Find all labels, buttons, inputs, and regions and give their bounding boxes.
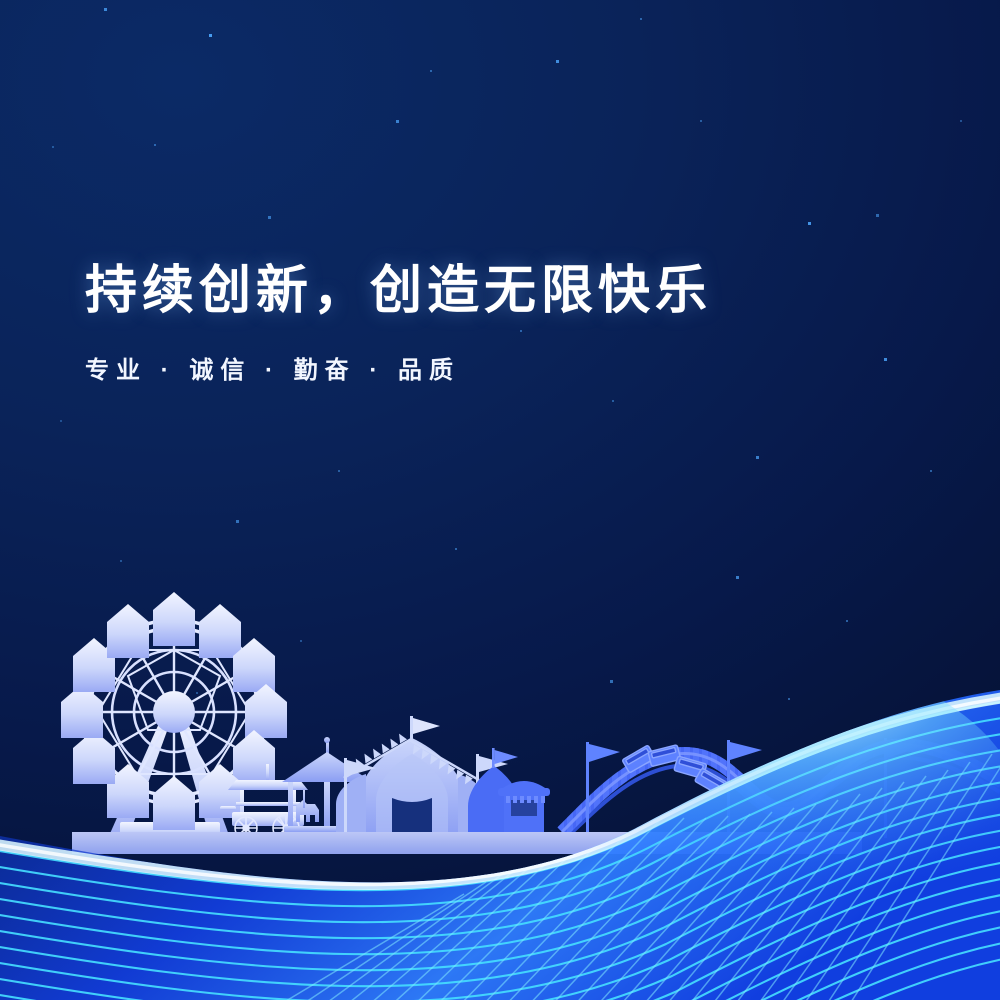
glowing-wave-mesh <box>0 0 1000 1000</box>
poster-canvas: 持续创新，创造无限快乐 专业 · 诚信 · 勤奋 · 品质 <box>0 0 1000 1000</box>
page-title: 持续创新，创造无限快乐 <box>85 262 712 320</box>
hero-copy: 持续创新，创造无限快乐 专业 · 诚信 · 勤奋 · 品质 <box>85 262 712 385</box>
page-subtitle: 专业 · 诚信 · 勤奋 · 品质 <box>85 350 712 385</box>
